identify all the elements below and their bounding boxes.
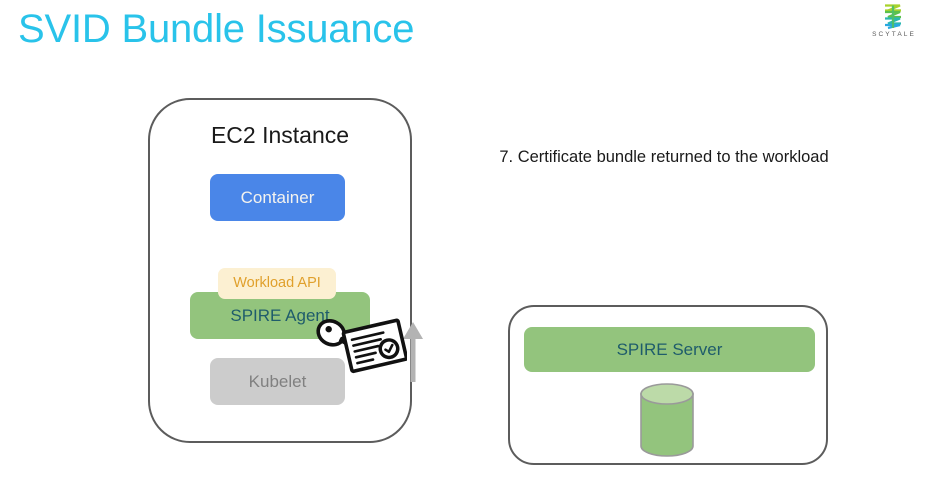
- key-and-certificate-icon: [312, 316, 407, 378]
- node-workload-api[interactable]: Workload API: [218, 268, 336, 299]
- scytale-logo-icon: [878, 2, 908, 30]
- page-title: SVID Bundle Issuance: [18, 6, 414, 52]
- ec2-instance-panel: EC2 Instance Container: [148, 98, 412, 443]
- node-container-label: Container: [241, 189, 315, 206]
- database-cylinder-icon: [639, 383, 695, 457]
- node-spire-server-label: SPIRE Server: [617, 341, 723, 358]
- brand-name: SCYTALE: [863, 31, 923, 38]
- node-container[interactable]: Container: [210, 174, 345, 221]
- brand-logo: SCYTALE: [863, 2, 923, 38]
- node-workload-api-label: Workload API: [233, 276, 321, 291]
- node-kubelet-label: Kubelet: [249, 373, 307, 390]
- spire-server-panel: SPIRE Server: [508, 305, 828, 465]
- node-spire-server[interactable]: SPIRE Server: [524, 327, 815, 372]
- slide-canvas: SVID Bundle Issuance SCYTALE EC2 Instanc…: [0, 0, 937, 490]
- step-caption: 7. Certificate bundle returned to the wo…: [455, 146, 873, 168]
- ec2-instance-title: EC2 Instance: [150, 122, 410, 150]
